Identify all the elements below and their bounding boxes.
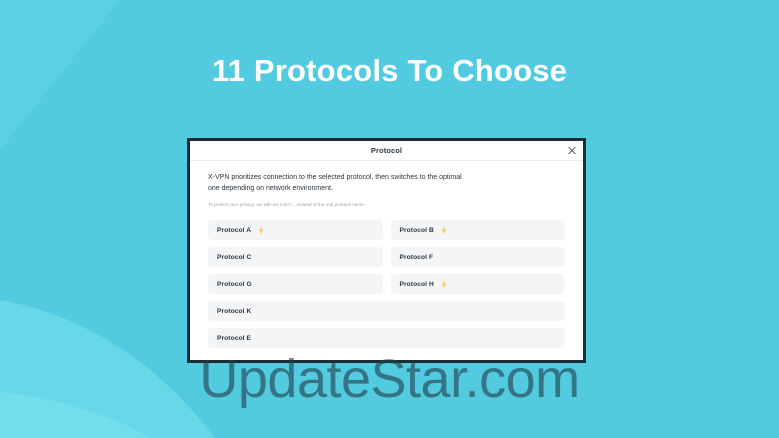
protocol-option[interactable]: Protocol H (391, 274, 566, 294)
protocol-dialog: Protocol X-VPN prioritizes connection to… (190, 141, 583, 360)
protocol-option-label: Protocol B (400, 227, 434, 234)
lightning-bolt-icon (258, 226, 264, 235)
protocol-option-label: Protocol H (400, 281, 434, 288)
protocol-option[interactable]: Protocol G (208, 274, 383, 294)
protocol-option-label: Protocol F (400, 254, 434, 261)
protocol-option-label: Protocol G (217, 281, 252, 288)
protocol-option-label: Protocol C (217, 254, 251, 261)
close-glyph-icon (568, 147, 576, 155)
protocol-list: Protocol AProtocol BProtocol CProtocol F… (208, 220, 565, 348)
protocol-option-label: Protocol K (217, 308, 251, 315)
dialog-title: Protocol (371, 146, 402, 155)
dialog-description: X-VPN prioritizes connection to the sele… (208, 173, 463, 195)
protocol-option[interactable]: Protocol K (208, 301, 565, 321)
close-icon[interactable] (566, 145, 577, 156)
protocol-option[interactable]: Protocol F (391, 247, 566, 267)
protocol-option-label: Protocol A (217, 227, 251, 234)
dialog-body: X-VPN prioritizes connection to the sele… (190, 161, 583, 348)
dialog-titlebar: Protocol (190, 141, 583, 161)
protocol-option[interactable]: Protocol C (208, 247, 383, 267)
protocol-option[interactable]: Protocol E (208, 328, 565, 348)
protocol-option[interactable]: Protocol A (208, 220, 383, 240)
lightning-bolt-icon (441, 226, 447, 235)
lightning-bolt-icon (441, 280, 447, 289)
app-window-frame: Protocol X-VPN prioritizes connection to… (187, 138, 586, 363)
promo-screenshot: 11 Protocols To Choose Protocol X-VPN pr… (0, 0, 779, 438)
page-title: 11 Protocols To Choose (0, 54, 779, 88)
dialog-privacy-note: To protect your privacy, we will use A,B… (208, 202, 565, 208)
protocol-option[interactable]: Protocol B (391, 220, 566, 240)
protocol-option-label: Protocol E (217, 335, 251, 342)
